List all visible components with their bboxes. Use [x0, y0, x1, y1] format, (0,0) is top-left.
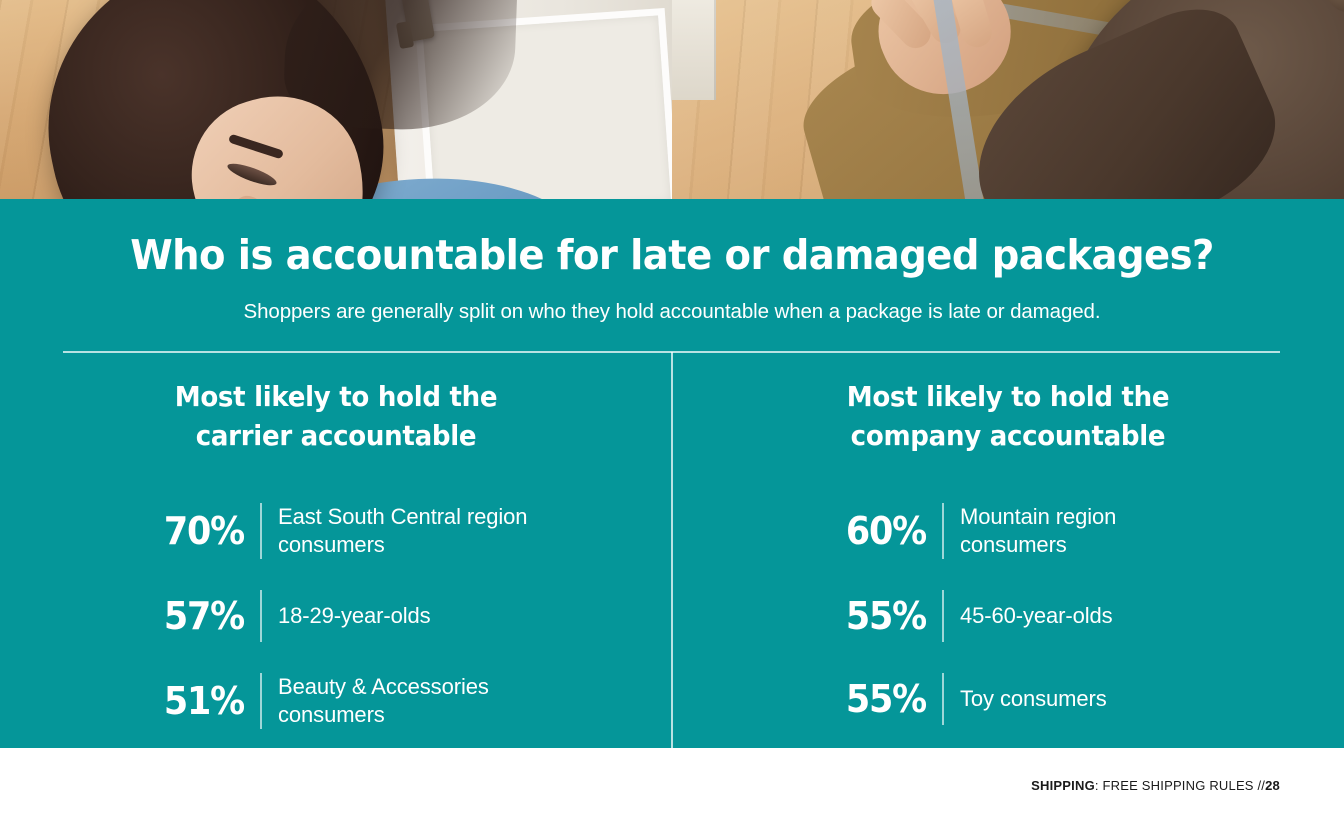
stat-label: Toy consumers [960, 685, 1210, 713]
column-company-accountable: Most likely to hold the company accounta… [672, 377, 1344, 756]
column-heading-line1: Most likely to hold the [24, 377, 649, 416]
wall-baseboard [672, 0, 716, 100]
stat-row: 57% 18-29-year-olds [0, 590, 672, 642]
stat-list: 60% Mountain region consumers 55% 45-60-… [672, 503, 1344, 725]
column-carrier-accountable: Most likely to hold the carrier accounta… [0, 377, 672, 760]
page-title: Who is accountable for late or damaged p… [40, 231, 1303, 279]
content-panel: Who is accountable for late or damaged p… [0, 199, 1344, 748]
stat-row: 51% Beauty & Accessories consumers [0, 673, 672, 729]
stat-separator [942, 590, 944, 642]
photo-woman-receiving-package [0, 0, 672, 199]
stat-percent: 57% [126, 594, 244, 638]
footer-caption: SHIPPING: FREE SHIPPING RULES //28 [1031, 778, 1280, 793]
photo-delivery-courier [672, 0, 1344, 199]
stat-row: 55% 45-60-year-olds [672, 590, 1344, 642]
stat-separator [260, 673, 262, 729]
stat-percent: 55% [816, 677, 926, 721]
stat-separator [942, 673, 944, 725]
stat-label: East South Central region consumers [278, 503, 556, 559]
stat-percent: 70% [126, 509, 244, 553]
stat-separator [260, 503, 262, 559]
column-heading-line1: Most likely to hold the [696, 377, 1321, 416]
stat-label: Beauty & Accessories consumers [278, 673, 556, 729]
stat-percent: 51% [126, 679, 244, 723]
column-heading: Most likely to hold the carrier accounta… [24, 377, 649, 455]
stat-percent: 60% [816, 509, 926, 553]
stat-label: Mountain region consumers [960, 503, 1210, 559]
header-photo-banner [0, 0, 1344, 199]
footer-page-number: 28 [1265, 778, 1280, 793]
stat-row: 70% East South Central region consumers [0, 503, 672, 559]
stat-list: 70% East South Central region consumers … [0, 503, 672, 729]
page-subtitle: Shoppers are generally split on who they… [0, 300, 1344, 324]
column-heading: Most likely to hold the company accounta… [696, 377, 1321, 455]
stat-label: 45-60-year-olds [960, 602, 1210, 630]
stat-label: 18-29-year-olds [278, 602, 556, 630]
stat-row: 60% Mountain region consumers [672, 503, 1344, 559]
footer-section: SHIPPING [1031, 778, 1095, 793]
footer-separator: : [1095, 778, 1103, 793]
slide: Who is accountable for late or damaged p… [0, 0, 1344, 816]
stat-percent: 55% [816, 594, 926, 638]
stat-row: 55% Toy consumers [672, 673, 1344, 725]
column-heading-line2: carrier accountable [24, 416, 649, 455]
stat-separator [260, 590, 262, 642]
footer-chapter: FREE SHIPPING RULES // [1103, 778, 1266, 793]
column-heading-line2: company accountable [696, 416, 1321, 455]
stat-separator [942, 503, 944, 559]
